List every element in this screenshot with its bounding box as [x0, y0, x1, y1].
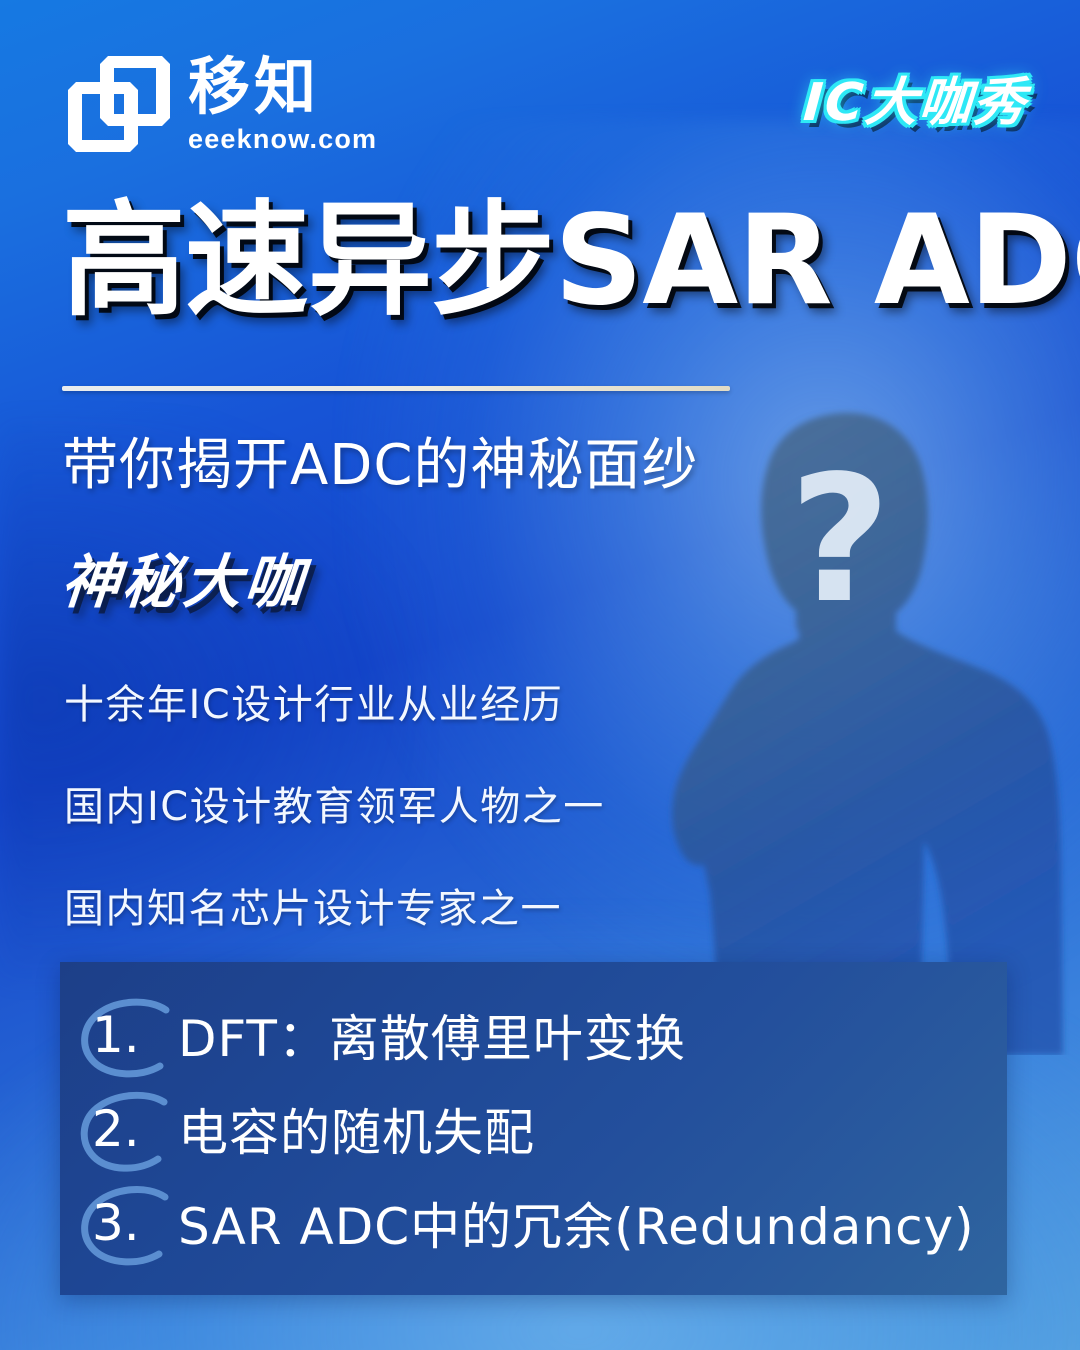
agenda-number-wrap: 1. — [92, 1006, 188, 1064]
page-title: 高速异步SAR ADC — [62, 196, 1080, 326]
show-badge: IC大咖秀 — [802, 60, 1031, 135]
agenda-number: 2. — [92, 1100, 140, 1158]
credential-line: 十余年IC设计行业从业经历 — [64, 672, 605, 730]
overlapping-squares-icon — [66, 52, 174, 156]
agenda-list: 1. DFT：离散傅里叶变换 2. 电容的随机失配 — [92, 1002, 975, 1256]
agenda-item: 2. 电容的随机失配 — [92, 1096, 975, 1162]
poster-root: ? 移知 eeeknow.com IC大咖秀 高速异步SAR ADC 带你揭开A… — [0, 0, 1080, 1350]
agenda-number: 3. — [92, 1194, 140, 1252]
brand-logo[interactable]: 移知 eeeknow.com — [66, 52, 377, 156]
agenda-text: DFT：离散傅里叶变换 — [178, 999, 686, 1071]
title-divider — [62, 386, 730, 391]
header: 移知 eeeknow.com IC大咖秀 — [0, 0, 1080, 180]
credential-line: 国内知名芯片设计专家之一 — [64, 876, 605, 934]
agenda-number-wrap: 3. — [92, 1194, 188, 1252]
agenda-item: 3. SAR ADC中的冗余(Redundancy) — [92, 1190, 975, 1256]
agenda-text: SAR ADC中的冗余(Redundancy) — [178, 1187, 975, 1259]
agenda-number: 1. — [92, 1006, 140, 1064]
agenda-number-wrap: 2. — [92, 1100, 188, 1158]
agenda-text: 电容的随机失配 — [178, 1093, 535, 1165]
page-subtitle: 带你揭开ADC的神秘面纱 — [62, 420, 699, 501]
guest-tag: 神秘大咖 — [58, 535, 309, 619]
agenda-item: 1. DFT：离散傅里叶变换 — [92, 1002, 975, 1068]
brand-website: eeeknow.com — [188, 126, 377, 153]
brand-name-cn: 移知 — [188, 56, 377, 118]
credential-line: 国内IC设计教育领军人物之一 — [64, 774, 605, 832]
guest-credentials: 十余年IC设计行业从业经历 国内IC设计教育领军人物之一 国内知名芯片设计专家之… — [64, 672, 605, 934]
